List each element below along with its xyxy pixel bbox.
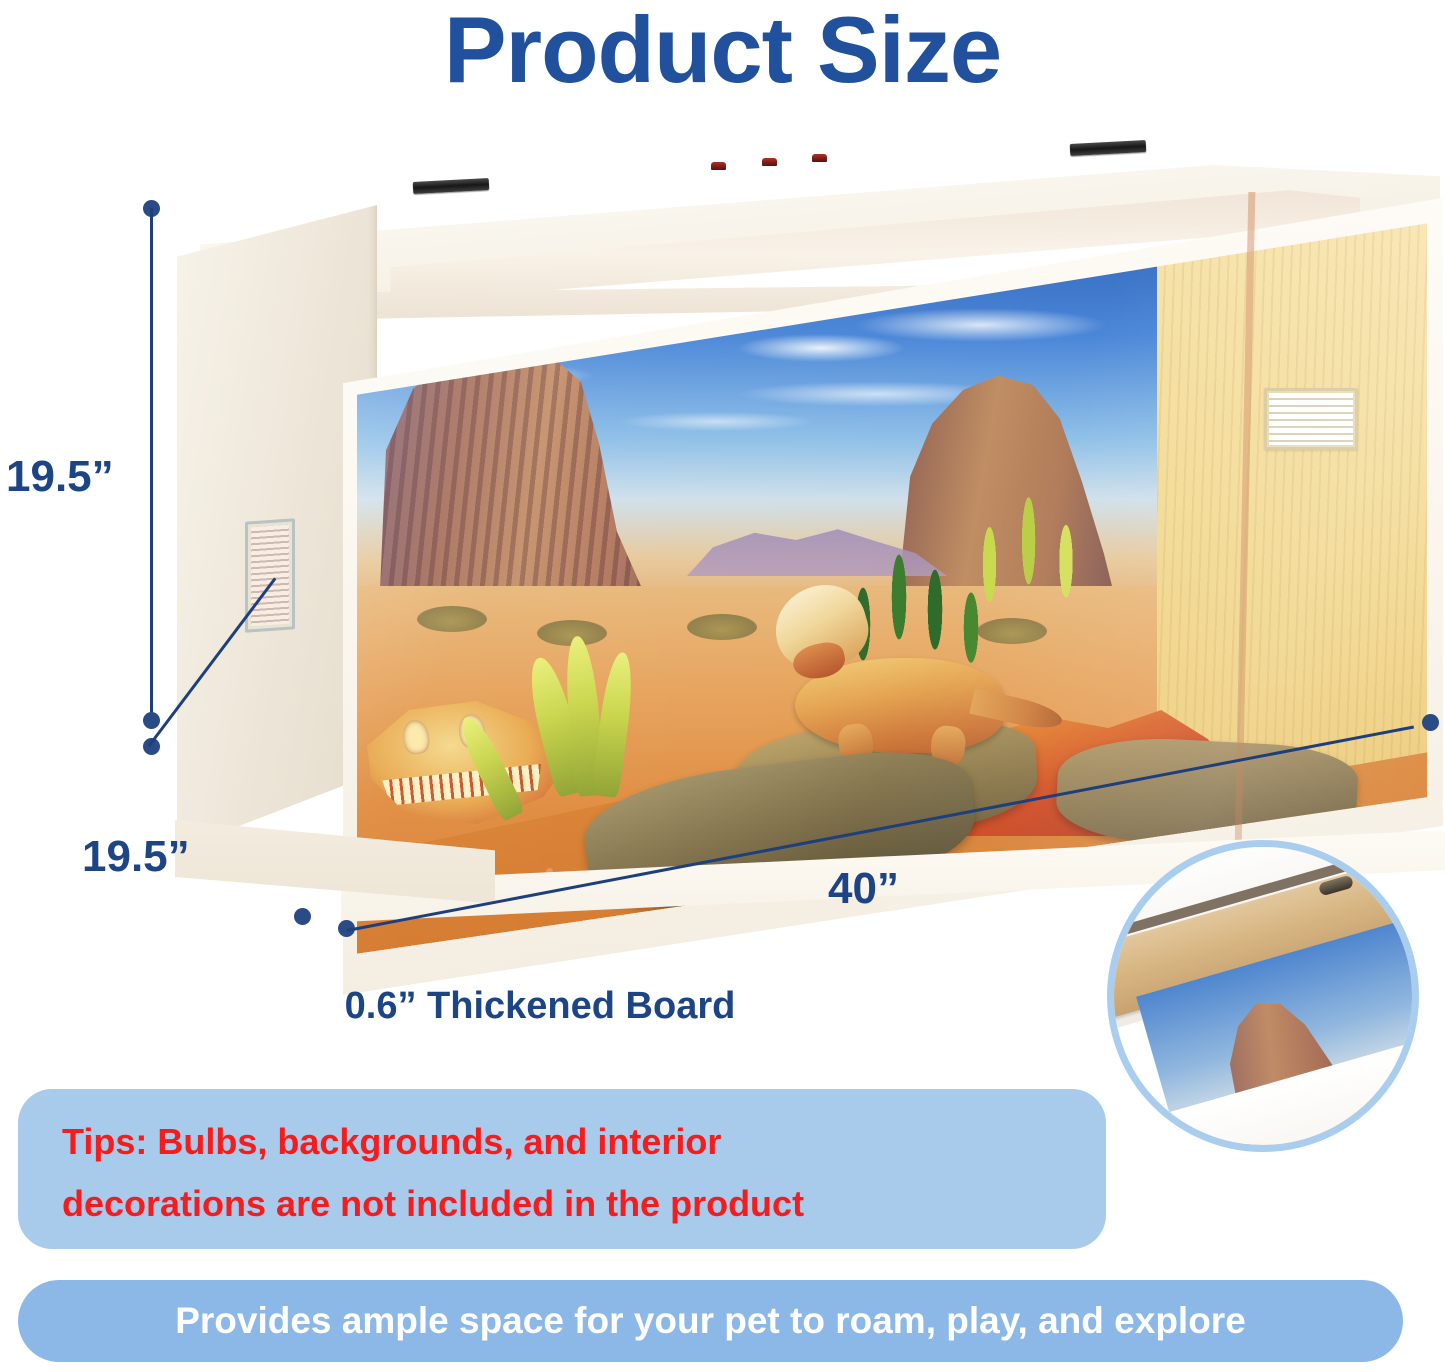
dimension-endpoint-dot [1422,714,1439,731]
feature-banner-text: Provides ample space for your pet to roa… [175,1300,1246,1342]
thickened-board-caption: 0.6” Thickened Board [0,985,1080,1028]
hinge-icon [1070,140,1147,156]
hinge-icon [413,178,490,194]
knob-icon [711,162,726,170]
vent-slats [251,525,289,627]
skull-eye [401,718,431,755]
interior-vent-icon [1264,388,1358,450]
width-dimension-label: 40” [828,864,899,914]
depth-dimension-label: 19.5” [82,832,190,882]
height-dimension-line [150,208,153,723]
dimension-endpoint-dot [294,908,311,925]
desert-scrub [417,606,487,632]
knob-icon [812,154,827,162]
tips-line-1: Tips: Bulbs, backgrounds, and interior [62,1111,1062,1173]
product-size-infographic: Product Size [0,0,1445,1372]
product-illustration [155,130,1445,930]
height-dimension-label: 19.5” [6,452,114,502]
feature-banner: Provides ample space for your pet to roa… [18,1280,1403,1362]
page-title: Product Size [0,0,1445,104]
vent-slats [1269,393,1353,445]
knob-icon [762,158,777,166]
tips-callout-box: Tips: Bulbs, backgrounds, and interior d… [18,1089,1106,1249]
dimension-endpoint-dot [143,712,160,729]
board-thickness-closeup-inset [1107,840,1419,1152]
left-side-vent-icon [245,518,295,632]
tips-line-2: decorations are not included in the prod… [62,1173,1062,1235]
